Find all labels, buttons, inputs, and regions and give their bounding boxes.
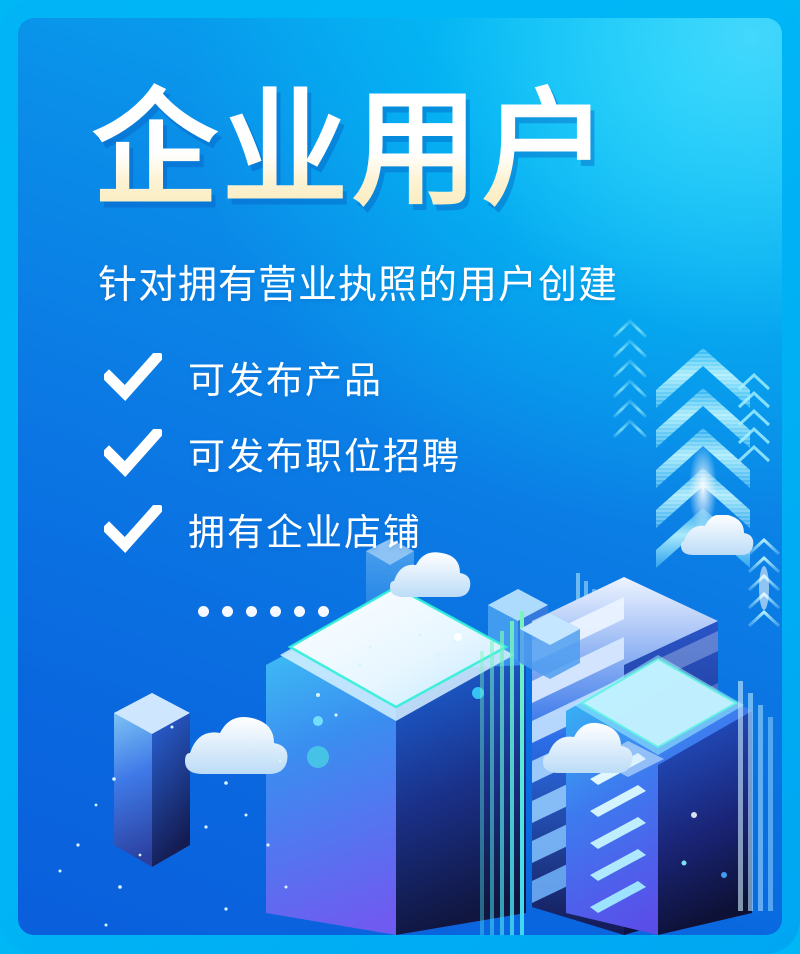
ellipsis-dot <box>270 606 281 617</box>
more-items-ellipsis <box>198 606 329 617</box>
ellipsis-dot <box>222 606 233 617</box>
ellipsis-dot <box>294 606 305 617</box>
cloud-right <box>681 515 753 555</box>
building-main-capped <box>266 587 526 935</box>
check-icon <box>104 353 162 401</box>
city-illustration <box>18 515 782 935</box>
page-subtitle: 针对拥有营业执照的用户创建 <box>98 254 618 310</box>
page-title: 企业用户 <box>92 82 612 218</box>
feature-item-2: 拥有企业店铺 <box>104 502 422 556</box>
chevron-stack-small-left-icon <box>608 303 652 473</box>
promo-card-frame: 企业用户 针对拥有营业执照的用户创建 可发布产品 可发布职位招聘 拥有企业店铺 <box>0 0 800 954</box>
feature-item-1: 可发布职位招聘 <box>104 426 461 480</box>
feature-label: 可发布产品 <box>188 350 383 404</box>
ellipsis-dot <box>246 606 257 617</box>
feature-label: 拥有企业店铺 <box>188 502 422 556</box>
building-small-left <box>114 693 190 867</box>
building-right-tower <box>566 655 752 935</box>
feature-item-0: 可发布产品 <box>104 350 383 404</box>
check-icon <box>104 505 162 553</box>
promo-card: 企业用户 针对拥有营业执照的用户创建 可发布产品 可发布职位招聘 拥有企业店铺 <box>18 18 782 935</box>
chevron-stack-small-right-icon <box>734 363 774 493</box>
ellipsis-dot <box>318 606 329 617</box>
ellipsis-dot <box>198 606 209 617</box>
check-icon <box>104 429 162 477</box>
feature-label: 可发布职位招聘 <box>188 426 461 480</box>
